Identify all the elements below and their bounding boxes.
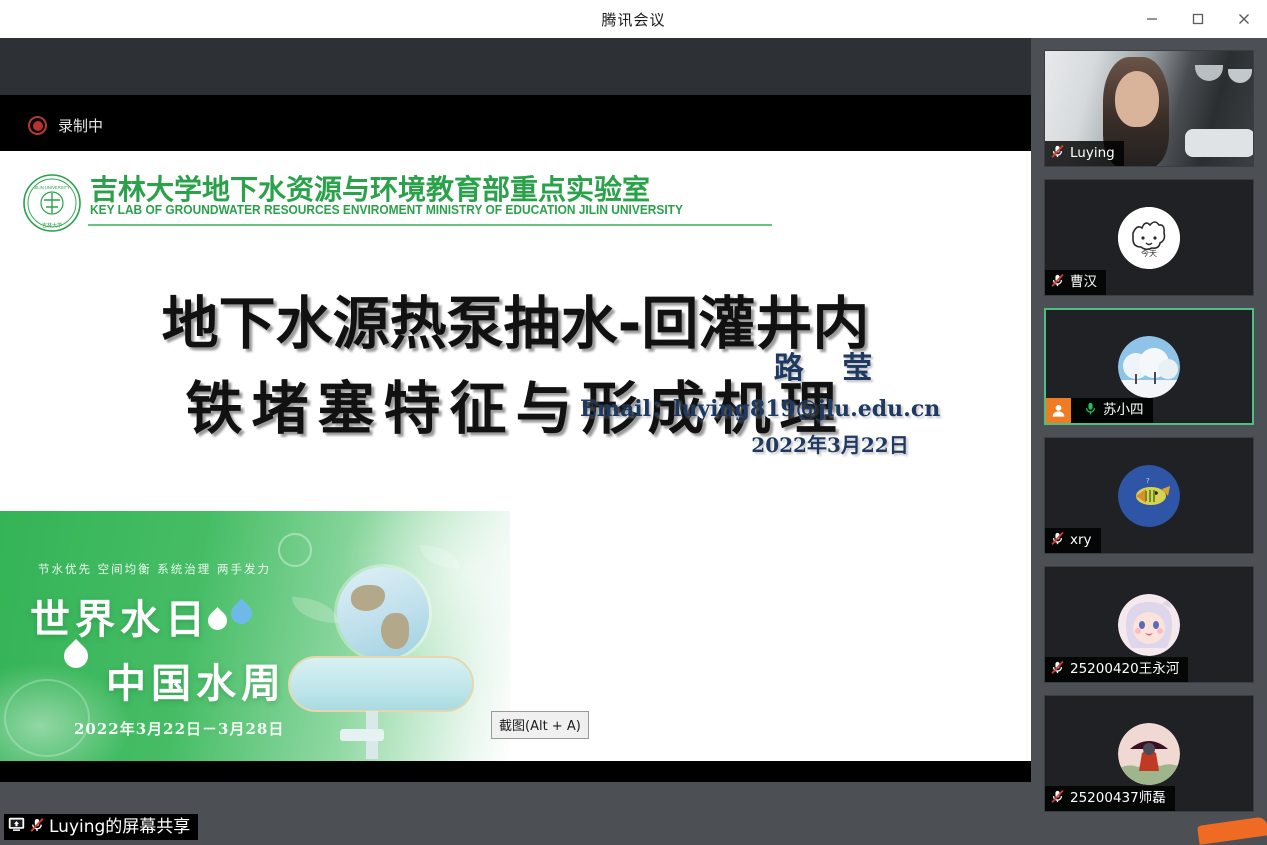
participant-tile[interactable]: 25200420王永河 xyxy=(1044,566,1254,683)
avatar xyxy=(1118,594,1180,656)
title-bar: 腾讯会议 xyxy=(0,0,1267,38)
window-controls xyxy=(1129,0,1267,38)
mic-active-icon xyxy=(1083,401,1098,421)
mic-muted-icon xyxy=(1050,660,1065,680)
leaf-decor xyxy=(292,597,338,623)
svg-text:?: ? xyxy=(1146,477,1150,485)
participant-name: 曹汉 xyxy=(1070,276,1097,290)
presenter-name: 路 莹 xyxy=(700,343,960,387)
banner-line1: 世界水日 xyxy=(30,587,210,645)
screenshot-tooltip: 截图(Alt + A) xyxy=(491,711,589,739)
water-basin-graphic xyxy=(288,656,474,712)
participant-tile[interactable]: 今天 曹汉 xyxy=(1044,179,1254,296)
avatar xyxy=(1118,336,1180,398)
participant-tile[interactable]: 25200437师磊 xyxy=(1044,695,1254,812)
jlu-seal-icon: JILIN UNIVERSITY 吉林大学 xyxy=(22,173,82,233)
banner-date-range: 2022年3月22日－3月28日 xyxy=(74,718,284,739)
participant-name: xry xyxy=(1070,534,1092,548)
avatar: ? xyxy=(1118,465,1180,527)
participant-name-chip: Luying xyxy=(1045,141,1124,166)
banner-line2: 中国水周 xyxy=(106,651,286,709)
participant-tile[interactable]: ? xry xyxy=(1044,437,1254,554)
bubble-decor xyxy=(278,533,312,567)
participant-name: 25200437师磊 xyxy=(1070,792,1166,806)
participant-tile[interactable]: Luying xyxy=(1044,50,1254,167)
presentation-date: 2022年3月22日 xyxy=(700,429,960,458)
world-water-day-banner: 节水优先 空间均衡 系统治理 两手发力 世界水日 中国水周 2022年3月22日… xyxy=(0,511,510,761)
participant-name: 25200420王永河 xyxy=(1070,663,1179,677)
mic-muted-icon xyxy=(1050,273,1065,293)
globe-graphic xyxy=(337,567,429,659)
recording-label: 录制中 xyxy=(58,115,103,136)
screen-share-icon xyxy=(8,817,25,837)
participant-name-chip: 25200420王永河 xyxy=(1045,657,1188,682)
tap-head-graphic xyxy=(340,729,384,741)
svg-text:今天: 今天 xyxy=(1141,248,1157,258)
lab-name-english: KEY LAB OF GROUNDWATER RESOURCES ENVIROM… xyxy=(90,203,683,217)
participant-name-chip: 25200437师磊 xyxy=(1045,786,1175,811)
tencent-meeting-window: 腾讯会议 录制中 xyxy=(0,0,1267,845)
avatar: 今天 xyxy=(1118,207,1180,269)
recording-indicator: 录制中 xyxy=(28,115,103,136)
svg-text:吉林大学: 吉林大学 xyxy=(42,222,62,229)
leaf-decor xyxy=(420,545,460,569)
participant-name-chip: xry xyxy=(1045,528,1101,553)
banner-slogan: 节水优先 空间均衡 系统治理 两手发力 xyxy=(38,561,271,577)
shared-screen-top-strip xyxy=(0,38,1031,95)
mic-muted-icon xyxy=(1050,144,1065,164)
lab-name-chinese: 吉林大学地下水资源与环境教育部重点实验室 xyxy=(90,168,650,208)
participant-name: Luying xyxy=(1070,147,1115,161)
record-dot-icon xyxy=(28,116,47,135)
screen-share-label: Luying的屏幕共享 xyxy=(49,819,190,836)
svg-text:JILIN UNIVERSITY: JILIN UNIVERSITY xyxy=(34,185,70,190)
close-button[interactable] xyxy=(1221,0,1267,38)
participant-name: 苏小四 xyxy=(1103,404,1144,418)
participant-name-chip: 苏小四 xyxy=(1046,398,1153,423)
window-title: 腾讯会议 xyxy=(601,9,665,30)
maximize-button[interactable] xyxy=(1175,0,1221,38)
mic-muted-icon xyxy=(29,817,45,838)
minimize-button[interactable] xyxy=(1129,0,1175,38)
slide-header: JILIN UNIVERSITY 吉林大学 吉林大学地下水资源与环境教育部重点实… xyxy=(0,167,1031,241)
host-badge-icon xyxy=(1046,398,1071,423)
participant-rail[interactable]: Luying 今天 xyxy=(1031,38,1267,845)
recording-bar: 录制中 xyxy=(0,95,1031,151)
participant-name-chip: 曹汉 xyxy=(1045,270,1106,295)
mic-muted-icon xyxy=(1050,789,1065,809)
screen-share-status: Luying的屏幕共享 xyxy=(4,814,198,840)
participant-tile-active-speaker[interactable]: 苏小四 xyxy=(1044,308,1254,425)
presentation-slide: JILIN UNIVERSITY 吉林大学 吉林大学地下水资源与环境教育部重点实… xyxy=(0,151,1031,761)
header-divider xyxy=(88,224,772,226)
presenter-email: Email：luying819@jlu.edu.cn xyxy=(580,391,1031,423)
water-drop-icon xyxy=(227,599,257,629)
mic-muted-icon xyxy=(1050,531,1065,551)
avatar xyxy=(1118,723,1180,785)
